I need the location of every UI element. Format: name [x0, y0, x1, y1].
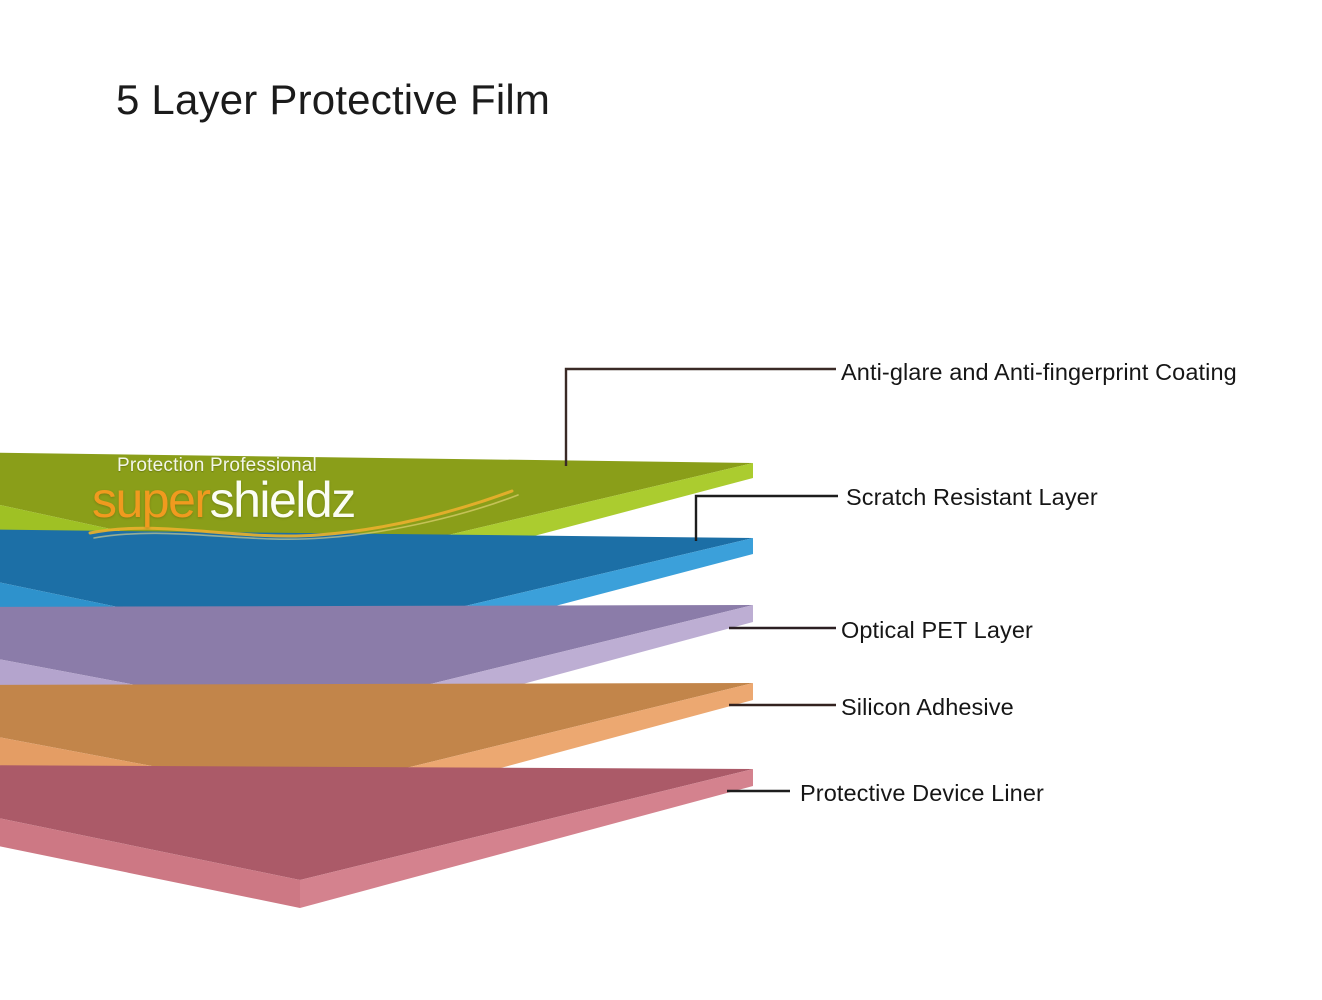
callout-label-protective-device-liner: Protective Device Liner	[800, 780, 1044, 807]
layer-slab-protective-device-liner	[0, 765, 753, 908]
callout-label-silicon-adhesive: Silicon Adhesive	[841, 694, 1014, 721]
layer-stack-illustration	[0, 0, 1322, 1000]
callout-label-scratch-resistant-layer: Scratch Resistant Layer	[846, 484, 1098, 511]
callout-label-optical-pet-layer: Optical PET Layer	[841, 617, 1033, 644]
leader-anti-glare-icon	[566, 369, 836, 466]
diagram-canvas: 5 Layer Protective Film Protection Profe…	[0, 0, 1322, 1000]
callout-label-anti-glare-coating: Anti-glare and Anti-fingerprint Coating	[841, 359, 1237, 386]
page-title: 5 Layer Protective Film	[116, 76, 550, 124]
leader-scratch-icon	[696, 496, 838, 541]
